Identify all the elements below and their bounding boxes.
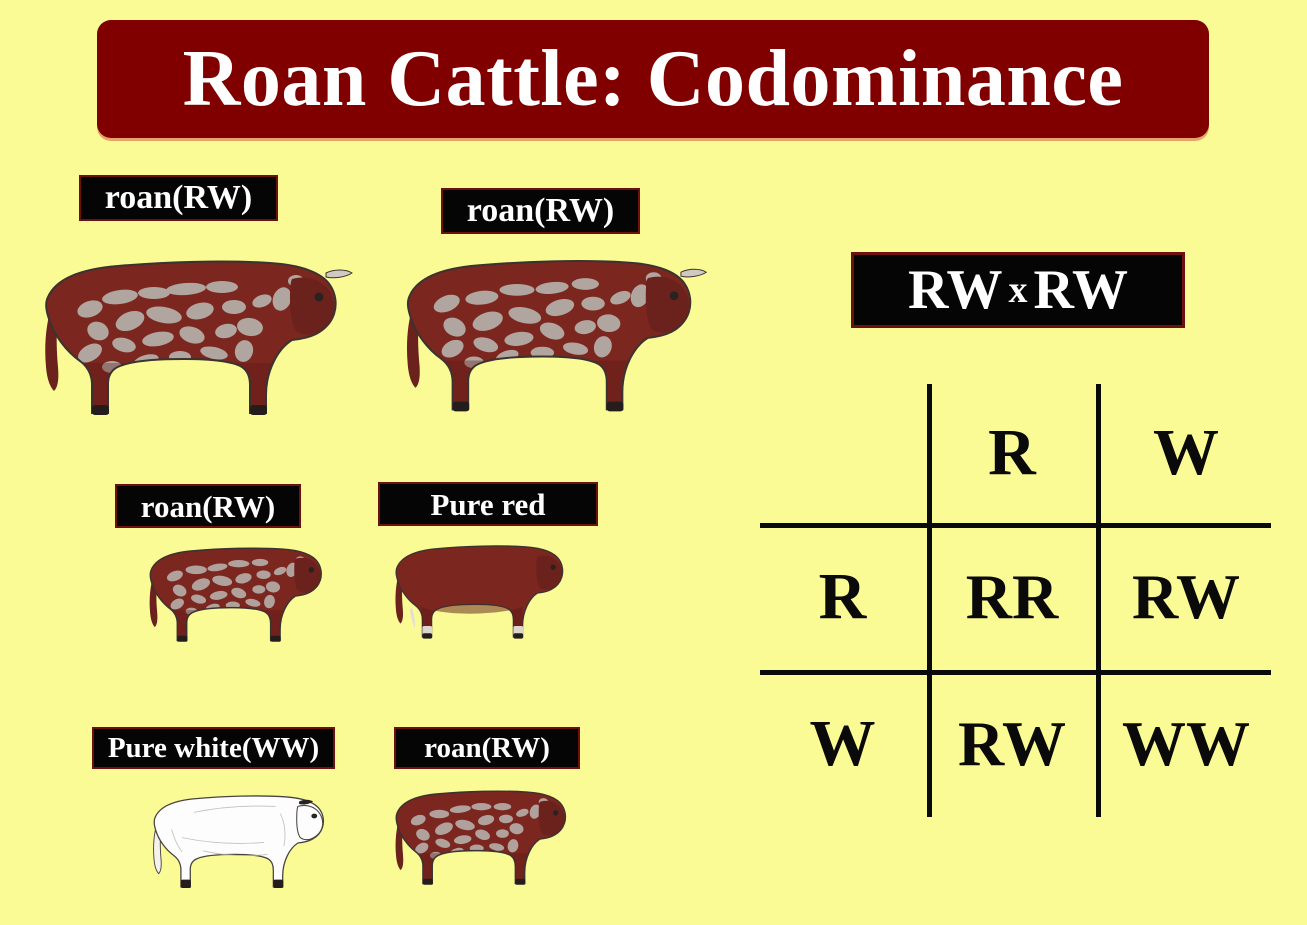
cow-eye [670, 291, 679, 300]
cow-hoof [181, 880, 191, 888]
cross-parent-2: RW [1034, 262, 1128, 318]
punnett-column-header-2: W [1101, 386, 1271, 519]
cow-hoof [177, 636, 187, 642]
punnett-cell-r1c1: RR [932, 528, 1092, 666]
label-text: roan(RW) [141, 491, 275, 522]
punnett-cell-r2c2: WW [1101, 675, 1271, 813]
cattle-figure-pure-red [389, 530, 579, 650]
label-offspring-roan-2: roan(RW) [394, 727, 580, 769]
cow-eye [553, 810, 558, 815]
cow-udder-mark [410, 608, 415, 628]
cattle-figure-roan-1 [34, 235, 364, 435]
roan-cow-illustration [396, 235, 718, 431]
cow-hoof [423, 879, 433, 885]
punnett-cell-r1c2: RW [1101, 528, 1271, 666]
cattle-figure-pure-white [147, 780, 340, 900]
cow-hoof [513, 633, 523, 638]
roan-cow-illustration [389, 775, 582, 897]
cow-hoof [250, 405, 267, 415]
cattle-figure-roan-2 [396, 235, 718, 431]
pure-white-cow-illustration [147, 780, 340, 900]
cow-eye [311, 814, 317, 819]
cow-hoof [92, 405, 109, 415]
punnett-cell-r2c1: RW [932, 675, 1092, 813]
label-text: roan(RW) [424, 734, 550, 763]
label-text: Pure white(WW) [108, 734, 319, 763]
punnett-row-header-1: R [762, 528, 923, 666]
cow-eye [309, 567, 314, 572]
cow-hoof [422, 633, 432, 638]
label-roan-parent-2: roan(RW) [441, 188, 640, 234]
cow-hoof [271, 636, 281, 642]
page-title: Roan Cattle: Codominance [183, 39, 1124, 119]
cow-eye [551, 565, 556, 570]
cross-parent-1: RW [908, 262, 1002, 318]
punnett-column-header-1: R [932, 386, 1092, 519]
cattle-figure-roan-4 [389, 775, 582, 897]
pure-red-cow-illustration [389, 530, 579, 650]
cattle-figure-roan-3 [143, 532, 338, 654]
cross-operator: x [1003, 271, 1034, 309]
roan-cow-illustration [34, 235, 364, 435]
label-offspring-roan-1: roan(RW) [115, 484, 301, 528]
cow-horn [326, 270, 352, 278]
cow-hoof [515, 879, 525, 885]
slide-canvas: Roan Cattle: Codominance roan(RW) [0, 0, 1307, 925]
label-offspring-pure-white: Pure white(WW) [92, 727, 335, 769]
label-roan-parent-1: roan(RW) [79, 175, 278, 221]
punnett-square: R W R W RR RW RW WW [758, 382, 1273, 819]
label-offspring-pure-red: Pure red [378, 482, 598, 526]
cow-hoof [273, 880, 283, 888]
label-text: roan(RW) [105, 181, 252, 215]
cow-hoof [453, 402, 470, 412]
cross-label: RW x RW [851, 252, 1185, 328]
cow-eye [315, 293, 324, 302]
punnett-row-header-2: W [762, 675, 923, 813]
cow-hoof [607, 402, 624, 412]
label-text: Pure red [430, 489, 545, 520]
cow-horn [681, 269, 706, 277]
roan-cow-illustration [143, 532, 338, 654]
label-text: roan(RW) [467, 194, 614, 228]
title-banner: Roan Cattle: Codominance [97, 20, 1209, 138]
